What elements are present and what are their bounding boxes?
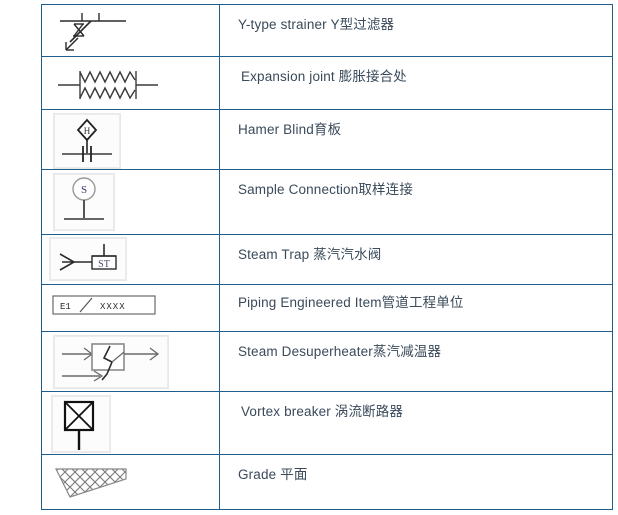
label-cell: Vortex breaker 涡流断路器	[220, 392, 613, 455]
symbol-label: Grade 平面	[220, 455, 612, 483]
table-row: Expansion joint 膨胀接合处	[42, 57, 613, 110]
table-row: Vortex breaker 涡流断路器	[42, 392, 613, 455]
pid-symbol-legend-table: Y-type strainer Y型过滤器	[41, 4, 613, 510]
legend-page: Y-type strainer Y型过滤器	[0, 0, 618, 515]
table-row: ST Steam Trap 蒸汽汽水阀	[42, 235, 613, 285]
symbol-label: Expansion joint 膨胀接合处	[220, 57, 612, 85]
sample-connection-symbol: S	[54, 174, 114, 235]
table-row: E1 XXXX Piping Engineered Item管道工程单位	[42, 285, 613, 332]
symbol-cell	[42, 332, 220, 392]
symbol-label: Steam Desuperheater蒸汽减温器	[220, 332, 612, 360]
table-row: Grade 平面	[42, 455, 613, 510]
symbol-label: Y-type strainer Y型过滤器	[220, 5, 612, 33]
steam-trap-symbol: ST	[50, 238, 126, 285]
grade-symbol	[50, 467, 136, 508]
vortex-breaker-symbol	[52, 396, 110, 457]
table-row: Y-type strainer Y型过滤器	[42, 5, 613, 57]
label-cell: Steam Trap 蒸汽汽水阀	[220, 235, 613, 285]
steam-desuperheater-symbol	[54, 336, 168, 393]
piping-item-prefix: E1	[60, 302, 71, 312]
y-type-strainer-symbol	[54, 9, 144, 62]
expansion-joint-symbol	[54, 65, 164, 110]
hamer-blind-tag: H	[84, 126, 91, 136]
symbol-label: Hamer Blind育板	[220, 110, 612, 138]
label-cell: Piping Engineered Item管道工程单位	[220, 285, 613, 332]
label-cell: Y-type strainer Y型过滤器	[220, 5, 613, 57]
hamer-blind-symbol: H	[54, 114, 120, 173]
label-cell: Expansion joint 膨胀接合处	[220, 57, 613, 110]
label-cell: Hamer Blind育板	[220, 110, 613, 170]
symbol-cell: ST	[42, 235, 220, 285]
table-row: Steam Desuperheater蒸汽减温器	[42, 332, 613, 392]
table-row: S Sample Connection取样连接	[42, 170, 613, 235]
symbol-cell	[42, 57, 220, 110]
symbol-label: Steam Trap 蒸汽汽水阀	[220, 235, 612, 263]
symbol-cell	[42, 392, 220, 455]
symbol-cell: H	[42, 110, 220, 170]
symbol-label: Sample Connection取样连接	[220, 170, 612, 198]
symbol-label: Piping Engineered Item管道工程单位	[220, 285, 612, 311]
symbol-label: Vortex breaker 涡流断路器	[220, 392, 612, 420]
label-cell: Grade 平面	[220, 455, 613, 510]
steam-trap-tag: ST	[98, 259, 110, 270]
symbol-cell	[42, 455, 220, 510]
symbol-cell: E1 XXXX	[42, 285, 220, 332]
table-row: H Hamer Blind育板	[42, 110, 613, 170]
piping-engineered-item-symbol: E1 XXXX	[52, 295, 156, 322]
label-cell: Steam Desuperheater蒸汽减温器	[220, 332, 613, 392]
sample-connection-tag: S	[81, 184, 87, 196]
symbol-cell	[42, 5, 220, 57]
piping-item-number: XXXX	[100, 302, 126, 312]
label-cell: Sample Connection取样连接	[220, 170, 613, 235]
symbol-cell: S	[42, 170, 220, 235]
